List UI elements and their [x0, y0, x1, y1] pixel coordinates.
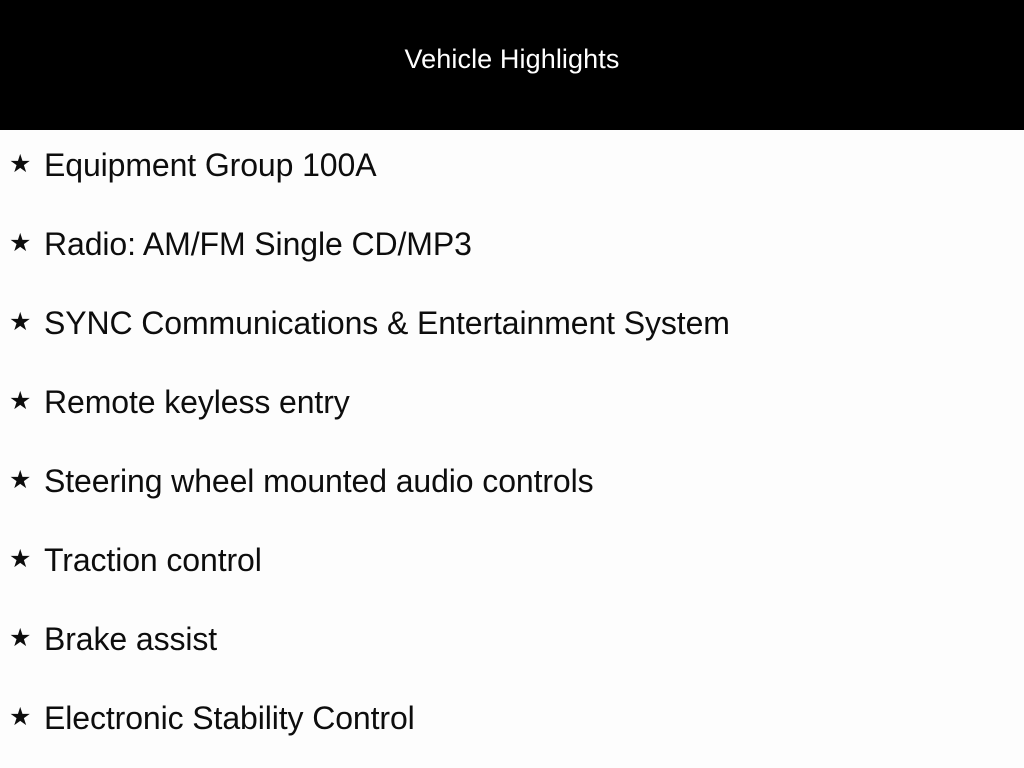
vehicle-highlights-list: ★ Equipment Group 100A ★ Radio: AM/FM Si…: [0, 130, 1024, 768]
star-bullet-icon: ★: [9, 626, 31, 650]
list-item: ★ Electronic Stability Control: [0, 683, 1024, 762]
list-item-label: Traction control: [44, 543, 262, 577]
list-item: ★ Traction control: [0, 525, 1024, 604]
list-item: ★ Steering wheel mounted audio controls: [0, 446, 1024, 525]
list-item: ★ Remote keyless entry: [0, 367, 1024, 446]
list-item-label: Equipment Group 100A: [44, 148, 376, 182]
star-bullet-icon: ★: [9, 547, 31, 571]
list-item-label: Brake assist: [44, 622, 217, 656]
star-bullet-icon: ★: [9, 468, 31, 492]
list-item-label: Electronic Stability Control: [44, 701, 415, 735]
page-title: Vehicle Highlights: [0, 0, 1024, 130]
list-item-label: SYNC Communications & Entertainment Syst…: [44, 306, 730, 340]
list-item-label: Radio: AM/FM Single CD/MP3: [44, 227, 472, 261]
star-bullet-icon: ★: [9, 231, 31, 255]
star-bullet-icon: ★: [9, 389, 31, 413]
list-item: ★ Brake assist: [0, 604, 1024, 683]
list-item: ★ SYNC Communications & Entertainment Sy…: [0, 288, 1024, 367]
header-bar: Vehicle Highlights: [0, 0, 1024, 130]
star-bullet-icon: ★: [9, 152, 31, 176]
list-item: ★ Equipment Group 100A: [0, 130, 1024, 209]
list-item-label: Steering wheel mounted audio controls: [44, 464, 594, 498]
list-item-label: Remote keyless entry: [44, 385, 350, 419]
list-item: ★ Radio: AM/FM Single CD/MP3: [0, 209, 1024, 288]
vehicle-highlights-page: Vehicle Highlights ★ Equipment Group 100…: [0, 0, 1024, 768]
star-bullet-icon: ★: [9, 310, 31, 334]
star-bullet-icon: ★: [9, 705, 31, 729]
